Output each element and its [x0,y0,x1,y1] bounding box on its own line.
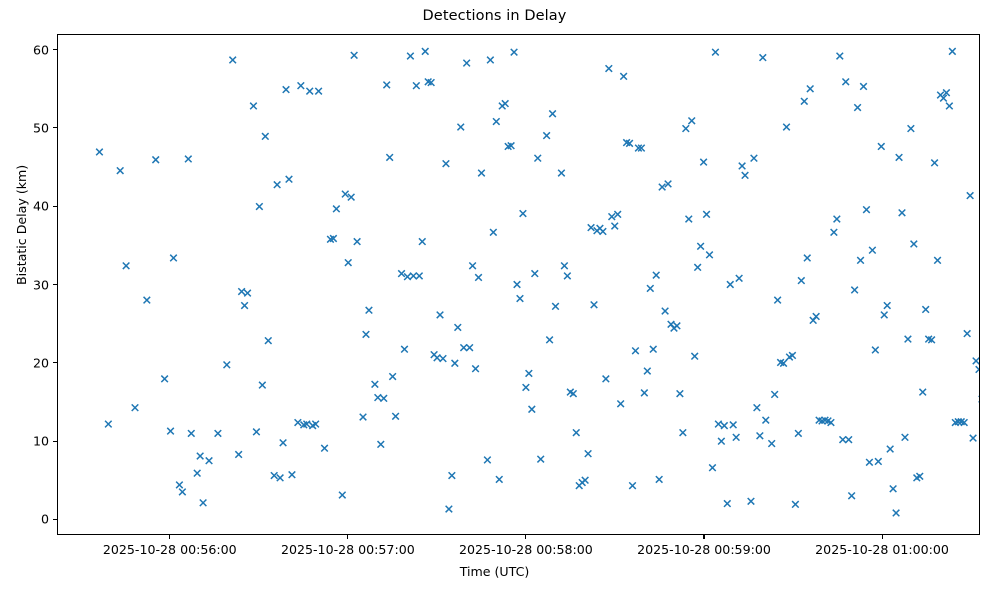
data-point [688,117,695,124]
data-point [496,476,503,483]
data-point [683,125,690,132]
data-point [283,86,290,93]
data-point [472,365,479,372]
data-point [185,156,192,163]
data-point [224,362,231,369]
data-point [582,477,589,484]
data-point [721,422,728,429]
data-point [475,274,482,281]
data-point [751,155,758,162]
plot-area [57,34,980,535]
data-point [167,428,174,435]
data-point [363,331,370,338]
data-point [893,510,900,517]
data-point [490,229,497,236]
data-point [573,429,580,436]
data-point [386,154,393,161]
data-point [434,355,441,362]
data-point [238,288,245,295]
data-point [718,438,725,445]
data-point [857,257,864,264]
data-point [440,355,447,362]
y-tick-label: 60 [33,42,49,57]
data-point [709,464,716,471]
data-point [200,500,207,507]
data-point [380,395,387,402]
y-tick-label: 20 [33,355,49,370]
data-point [413,82,420,89]
data-point [517,295,524,302]
data-point [511,49,518,56]
figure-canvas: Detections in Delay 01020304050602025-10… [0,0,989,590]
data-point [206,457,213,464]
data-point [478,170,485,177]
data-point [466,344,473,351]
data-point [839,436,846,443]
data-point [452,360,459,367]
x-tick-mark [703,535,704,539]
data-point [552,303,559,310]
data-point [703,211,710,218]
x-tick-mark [169,535,170,539]
data-point [760,54,767,61]
scatter-series [58,35,979,534]
data-point [771,391,778,398]
data-point [730,422,737,429]
data-point [603,376,610,383]
x-tick-mark [525,535,526,539]
data-point [680,429,687,436]
data-point [632,347,639,354]
y-axis-label: Bistatic Delay (km) [14,165,29,285]
data-point [860,83,867,90]
x-tick-label: 2025-10-28 00:56:00 [103,542,237,557]
data-point [878,143,885,150]
data-point [674,323,681,330]
data-point [863,206,870,213]
data-point [401,346,408,353]
data-point [931,160,938,167]
x-tick-label: 2025-10-28 00:57:00 [281,542,415,557]
data-point [161,376,168,383]
data-point [558,170,565,177]
data-point [271,472,278,479]
data-point [739,163,746,170]
data-point [908,125,915,132]
data-point [973,358,979,365]
data-point [250,103,257,110]
data-point [197,453,204,460]
data-point [348,194,355,201]
data-point [733,434,740,441]
data-point [641,390,648,397]
data-point [360,414,367,421]
data-point [383,82,390,89]
data-point [842,78,849,85]
data-point [529,406,536,413]
data-point [804,255,811,262]
data-point [457,124,464,131]
data-point [656,476,663,483]
data-point [608,213,615,220]
data-point [697,243,704,250]
data-point [531,270,538,277]
data-point [837,53,844,60]
data-point [807,86,814,93]
data-point [446,506,453,513]
data-point [375,394,382,401]
data-point [629,482,636,489]
data-point [543,132,550,139]
data-point [922,306,929,313]
data-point [611,223,618,230]
data-point [449,472,456,479]
data-point [754,404,761,411]
data-point [964,330,971,337]
data-point [117,167,124,174]
data-point [514,281,521,288]
data-point [854,104,861,111]
data-point [96,149,103,156]
data-point [351,52,358,59]
data-point [546,337,553,344]
data-point [591,301,598,308]
data-point [970,435,977,442]
data-point [144,297,151,304]
data-point [869,247,876,254]
data-point [792,501,799,508]
data-point [419,238,426,245]
data-point [289,471,296,478]
data-point [694,264,701,271]
data-point [967,192,974,199]
data-point [315,88,322,95]
data-point [389,373,396,380]
data-point [229,57,236,64]
data-point [454,324,461,331]
data-point [899,209,906,216]
data-point [244,290,251,297]
data-point [132,404,139,411]
data-point [976,366,979,373]
data-point [644,368,651,375]
data-point [801,98,808,105]
data-point [404,273,411,280]
y-tick-label: 30 [33,277,49,292]
data-point [123,263,130,270]
data-point [831,229,838,236]
data-point [691,353,698,360]
data-point [902,434,909,441]
data-point [748,498,755,505]
data-point [662,308,669,315]
data-point [742,172,749,179]
chart-title: Detections in Delay [0,8,989,24]
x-axis-label: Time (UTC) [0,564,989,579]
data-point [757,432,764,439]
data-point [321,445,328,452]
data-point [105,421,112,428]
data-point [677,390,684,397]
data-point [848,493,855,500]
x-tick-label: 2025-10-28 00:58:00 [459,542,593,557]
data-point [866,459,873,466]
data-point [274,181,281,188]
y-tick-label: 40 [33,199,49,214]
data-point [946,103,953,110]
data-point [881,312,888,319]
data-point [345,259,352,266]
data-point [176,482,183,489]
data-point [872,347,879,354]
data-point [614,211,621,218]
data-point [235,451,242,458]
data-point [564,273,571,280]
data-point [215,430,222,437]
data-point [949,48,956,55]
data-point [715,421,722,428]
data-point [653,272,660,279]
data-point [372,381,379,388]
data-point [407,53,414,60]
data-point [392,413,399,420]
data-point [366,307,373,314]
data-point [259,382,266,389]
data-point [295,419,302,426]
data-point [170,255,177,262]
data-point [342,191,349,198]
data-point [354,238,361,245]
data-point [280,439,287,446]
y-tick-label: 0 [41,512,49,527]
data-point [416,273,423,280]
data-point [463,60,470,67]
data-point [493,118,500,125]
data-point [700,159,707,166]
x-tick-label: 2025-10-28 00:59:00 [637,542,771,557]
data-point [484,457,491,464]
data-point [526,370,533,377]
data-point [398,270,405,277]
data-point [422,48,429,55]
data-point [437,312,444,319]
data-point [934,257,941,264]
data-point [534,155,541,162]
x-tick-label: 2025-10-28 01:00:00 [815,542,949,557]
data-point [783,124,790,131]
data-point [179,489,186,496]
data-point [647,285,654,292]
data-point [241,302,248,309]
x-tick-mark [347,535,348,539]
data-point [378,441,385,448]
data-point [884,302,891,309]
data-point [617,401,624,408]
data-point [502,100,509,107]
data-point [905,336,912,343]
data-point [265,337,272,344]
data-point [875,458,882,465]
data-point [600,228,607,235]
data-point [460,344,467,351]
data-point [890,485,897,492]
data-point [188,430,195,437]
data-point [469,263,476,270]
data-point [253,429,260,436]
data-point [487,57,494,64]
data-point [762,417,769,424]
data-point [774,297,781,304]
data-point [339,492,346,499]
data-point [813,313,820,320]
data-point [298,82,305,89]
data-point [286,176,293,183]
data-point [650,346,657,353]
data-point [665,181,672,188]
data-point [798,277,805,284]
data-point [306,88,313,95]
data-point [706,252,713,259]
data-point [919,389,926,396]
data-point [887,446,894,453]
data-point [911,241,918,248]
data-point [606,65,613,72]
data-point [588,224,595,231]
data-point [736,275,743,282]
data-point [410,273,417,280]
data-point [685,216,692,223]
data-point [520,210,527,217]
y-tick-label: 50 [33,120,49,135]
data-point [585,450,592,457]
data-point [795,430,802,437]
data-point [256,203,263,210]
data-point [262,133,269,140]
data-point [834,216,841,223]
data-point [712,49,719,56]
data-point [152,156,159,163]
data-point [851,287,858,294]
data-point [659,184,666,191]
data-point [896,154,903,161]
data-point [277,475,284,482]
data-point [561,263,568,270]
y-tick-label: 10 [33,434,49,449]
data-point [333,206,340,213]
data-point [724,500,731,507]
data-point [194,470,201,477]
data-point [768,440,775,447]
data-point [845,436,852,443]
data-point [727,281,734,288]
data-point [443,160,450,167]
data-point [537,456,544,463]
data-point [620,73,627,80]
data-point [549,110,556,117]
x-tick-mark [882,535,883,539]
data-point [523,384,530,391]
